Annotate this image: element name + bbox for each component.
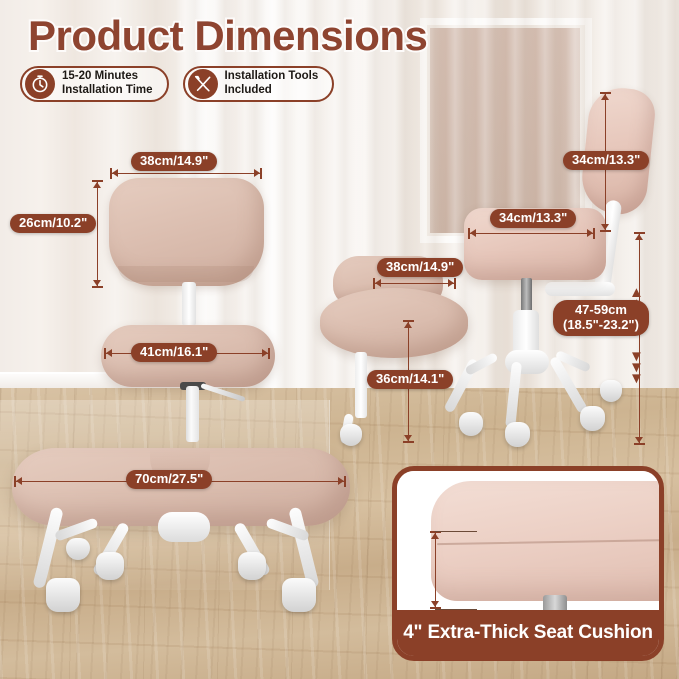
label-backrest-height: 26cm/10.2" [10, 214, 96, 233]
arrowhead-seat-depth-right [448, 279, 454, 287]
badge-line-2: Included [225, 84, 272, 96]
arrowhead-seat-depth-left [375, 279, 381, 287]
arrowhead-armrest-width-left [470, 229, 476, 237]
arrowhead-back-height-bottom [601, 224, 609, 230]
label-seat-height-low: 36cm/14.1" [367, 370, 453, 389]
arrowhead-armrest-width-right [587, 229, 593, 237]
arrowhead-backrest-height-bottom [93, 280, 101, 286]
arrowhead-seat-back-width-left [106, 349, 112, 357]
seat-cushion-inset-panel: 4" Extra-Thick Seat Cushion [392, 466, 664, 661]
label-seat-back-width: 41cm/16.1" [131, 343, 217, 362]
arrowhead-height-range-top [635, 234, 643, 240]
left-chair-caster-1 [46, 578, 80, 612]
badge-line-2: Installation Time [62, 84, 153, 96]
right-chair-gas-cylinder [521, 278, 532, 314]
arrowhead-backrest-width-left [112, 169, 118, 177]
left-chair-caster-2 [282, 578, 316, 612]
arrowhead-cushion-top [431, 533, 439, 539]
cushion-top-guide [435, 531, 477, 532]
badge-line-1: 15-20 Minutes [62, 70, 138, 82]
dim-line-backrest-width [110, 173, 262, 174]
label-seat-depth: 38cm/14.9" [377, 258, 463, 277]
right-chair-caster-3 [580, 406, 605, 431]
dim-line-height-range [639, 232, 640, 445]
label-backrest-width: 38cm/14.9" [131, 152, 217, 171]
right-chair-caster-4 [600, 380, 622, 402]
badge-installation-time-text: 15-20 Minutes Installation Time [62, 70, 153, 97]
tools-icon [188, 69, 218, 99]
middle-chair-caster-1 [340, 424, 362, 446]
label-armrest-back-height: 34cm/13.3" [563, 151, 649, 170]
badge-tools-included: Installation Tools Included [183, 66, 335, 102]
arrowhead-seat-height-low-top [404, 322, 412, 328]
label-height-range: 47-59cm (18.5"-23.2") [553, 300, 649, 336]
middle-chair-column [355, 352, 367, 418]
label-seat-width: 70cm/27.5" [126, 470, 212, 489]
arrowhead-backrest-height-top [93, 182, 101, 188]
middle-chair-seat [320, 288, 468, 358]
left-chair-backrest-seam [118, 266, 254, 282]
left-chair-gas-cylinder [186, 386, 199, 442]
arrowhead-seat-width-right [338, 477, 344, 485]
arrowhead-seat-width-left [16, 477, 22, 485]
chevron-down-icon: ▼▼▼ [629, 352, 644, 384]
dim-line-armrest-width [468, 233, 595, 234]
left-chair-back-post [182, 282, 196, 326]
dim-line-seat-depth [373, 283, 456, 284]
inset-caption: 4" Extra-Thick Seat Cushion [397, 610, 659, 656]
page-title: Product Dimensions [28, 12, 427, 60]
arrowhead-seat-height-low-bottom [404, 435, 412, 441]
infographic-canvas: 38cm/14.9" 26cm/10.2" 41cm/16.1" 70cm/27… [0, 0, 679, 679]
arrowhead-seat-back-width-right [262, 349, 268, 357]
feature-badges: 15-20 Minutes Installation Time Installa… [20, 66, 334, 102]
arrowhead-backrest-width-right [254, 169, 260, 177]
inset-photo [397, 471, 659, 614]
badge-tools-included-text: Installation Tools Included [225, 70, 319, 97]
arrowhead-back-height-top [601, 94, 609, 100]
right-chair-caster-1 [459, 412, 483, 436]
label-height-range-cm: 47-59cm [575, 302, 627, 317]
right-chair-arm-horizontal [545, 282, 615, 296]
left-chair-caster-4 [238, 552, 266, 580]
left-chair-caster-3 [96, 552, 124, 580]
badge-line-1: Installation Tools [225, 70, 319, 82]
badge-installation-time: 15-20 Minutes Installation Time [20, 66, 169, 102]
dim-line-cushion-thickness [435, 531, 436, 609]
arrowhead-cushion-bottom [431, 601, 439, 607]
arrowhead-height-range-bottom [635, 437, 643, 443]
left-chair-base-hub [158, 512, 210, 542]
dim-line-backrest-height [97, 180, 98, 288]
stopwatch-icon [25, 69, 55, 99]
right-chair-caster-2 [505, 422, 530, 447]
label-height-range-in: (18.5"-23.2") [563, 317, 639, 332]
label-armrest-width: 34cm/13.3" [490, 209, 576, 228]
